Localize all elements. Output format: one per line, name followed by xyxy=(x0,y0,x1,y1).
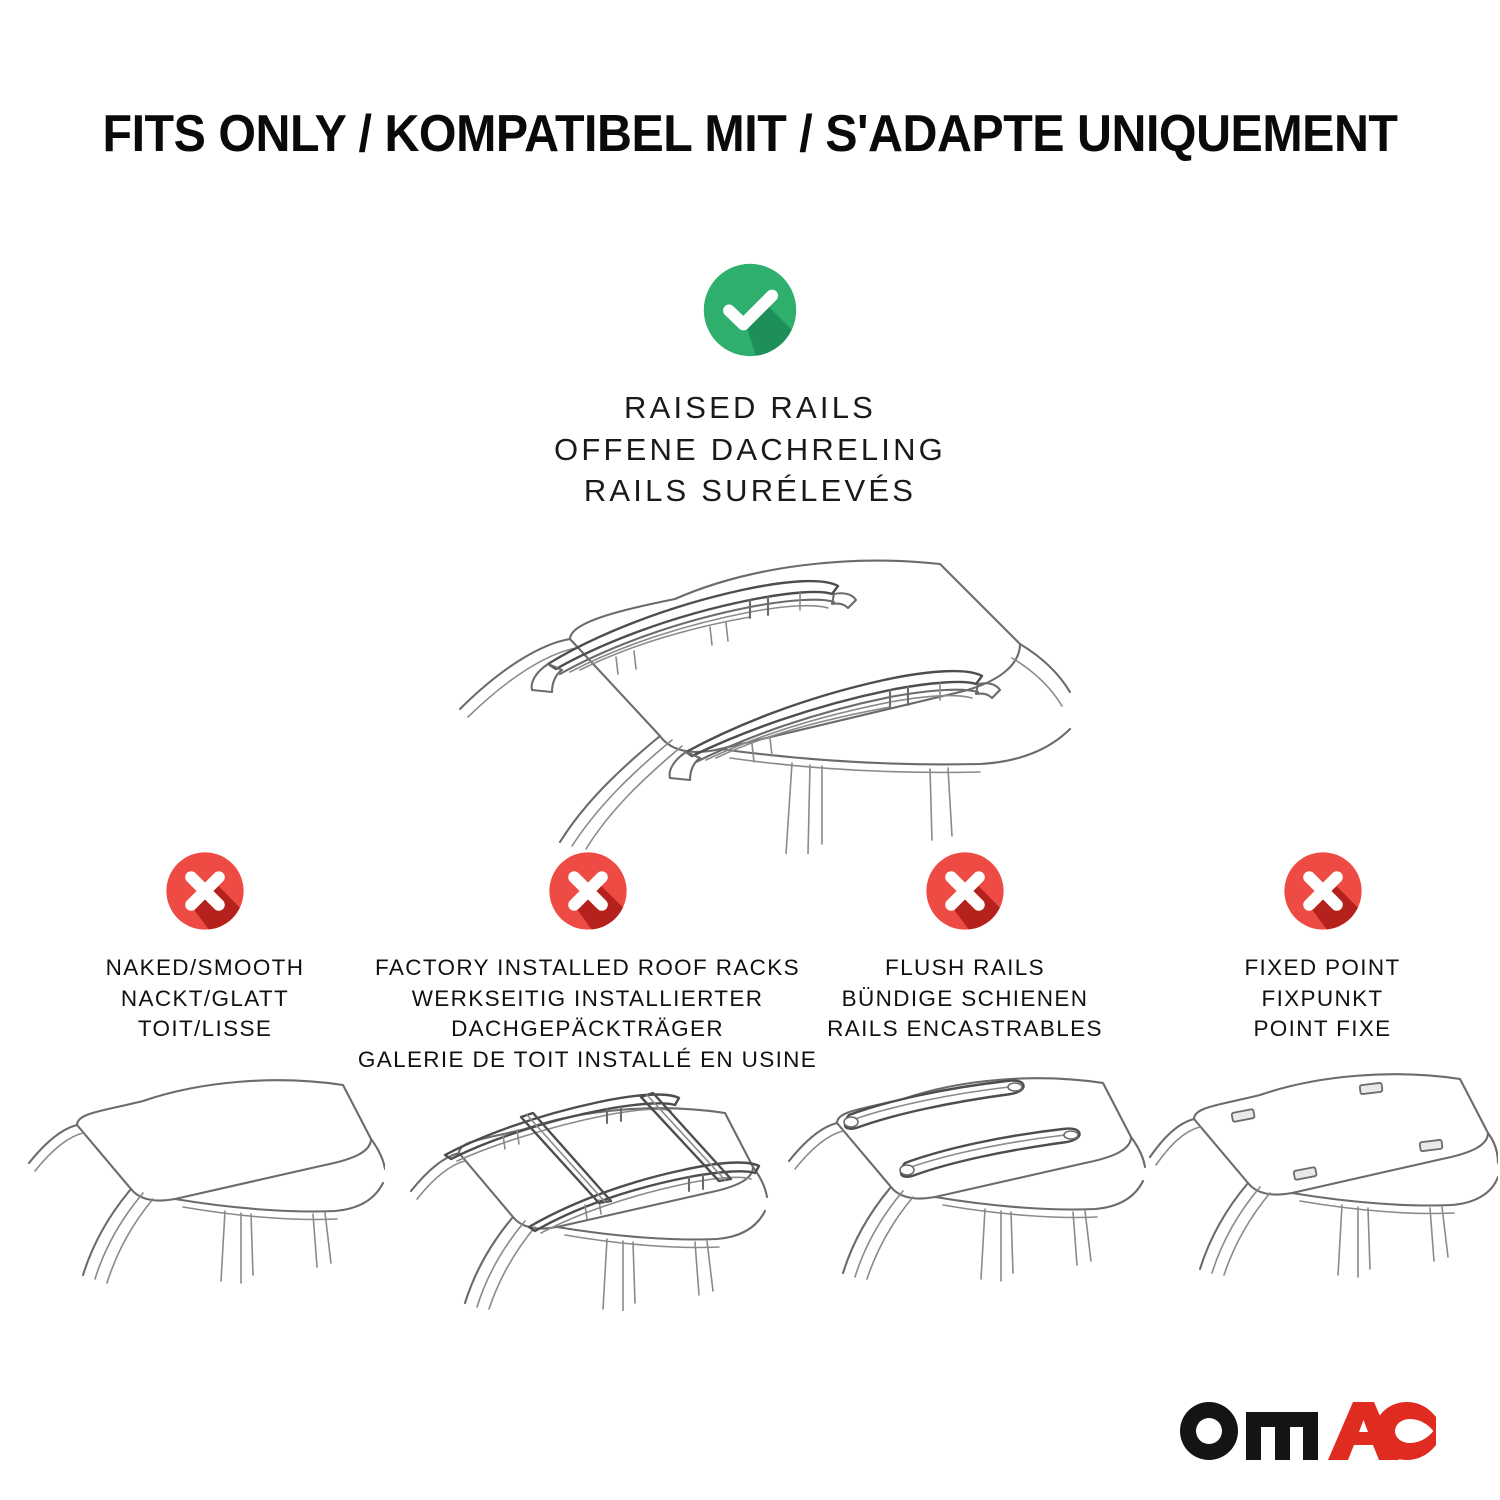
item-label-fr: POINT FIXE xyxy=(1244,1014,1400,1045)
incompatible-section: NAKED/SMOOTH NACKT/GLATT TOIT/LISSE xyxy=(0,845,1500,1311)
cross-circle-icon xyxy=(159,845,251,937)
car-roof-flush-rails-illustration xyxy=(783,1059,1148,1289)
incompatible-item-factory-racks: FACTORY INSTALLED ROOF RACKS WERKSEITIG … xyxy=(390,845,785,1311)
fitment-infographic: FITS ONLY / KOMPATIBEL MIT / S'ADAPTE UN… xyxy=(0,0,1500,1500)
car-roof-naked-smooth-illustration xyxy=(25,1063,385,1293)
item-label-fr: GALERIE DE TOIT INSTALLÉ EN USINE xyxy=(358,1045,817,1076)
item-label-fr: TOIT/LISSE xyxy=(106,1014,305,1045)
item-label-de-2: DACHGEPÄCKTRÄGER xyxy=(358,1014,817,1045)
compatible-labels: RAISED RAILS OFFENE DACHRELING RAILS SUR… xyxy=(554,387,946,512)
check-circle-icon xyxy=(695,255,805,365)
cross-circle-icon xyxy=(1277,845,1369,937)
item-labels: FLUSH RAILS BÜNDIGE SCHIENEN RAILS ENCAS… xyxy=(827,953,1103,1045)
incompatible-item-fixed-point: FIXED POINT FIXPUNKT POINT FIXE xyxy=(1145,845,1500,1289)
cross-circle-icon xyxy=(919,845,1011,937)
compatible-label-en: RAISED RAILS xyxy=(554,387,946,429)
item-label-en: FACTORY INSTALLED ROOF RACKS xyxy=(358,953,817,984)
item-label-de: FIXPUNKT xyxy=(1244,984,1400,1015)
incompatible-item-flush-rails: FLUSH RAILS BÜNDIGE SCHIENEN RAILS ENCAS… xyxy=(785,845,1145,1289)
omac-logo xyxy=(1178,1400,1438,1462)
item-labels: NAKED/SMOOTH NACKT/GLATT TOIT/LISSE xyxy=(106,953,305,1045)
compatible-label-fr: RAILS SURÉLEVÉS xyxy=(554,470,946,512)
item-labels: FIXED POINT FIXPUNKT POINT FIXE xyxy=(1244,953,1400,1045)
item-label-de: BÜNDIGE SCHIENEN xyxy=(827,984,1103,1015)
item-label-en: FIXED POINT xyxy=(1244,953,1400,984)
car-roof-raised-rails-illustration xyxy=(420,524,1080,854)
car-roof-fixed-point-illustration xyxy=(1148,1059,1498,1289)
item-label-en: FLUSH RAILS xyxy=(827,953,1103,984)
compatible-label-de: OFFENE DACHRELING xyxy=(554,429,946,471)
incompatible-item-naked-smooth: NAKED/SMOOTH NACKT/GLATT TOIT/LISSE xyxy=(0,845,390,1293)
item-label-de: NACKT/GLATT xyxy=(106,984,305,1015)
item-label-fr: RAILS ENCASTRABLES xyxy=(827,1014,1103,1045)
item-labels: FACTORY INSTALLED ROOF RACKS WERKSEITIG … xyxy=(358,953,817,1075)
car-roof-factory-racks-illustration xyxy=(403,1081,773,1311)
compatible-section: RAISED RAILS OFFENE DACHRELING RAILS SUR… xyxy=(0,255,1500,854)
item-label-en: NAKED/SMOOTH xyxy=(106,953,305,984)
cross-circle-icon xyxy=(542,845,634,937)
item-label-de-1: WERKSEITIG INSTALLIERTER xyxy=(358,984,817,1015)
page-title: FITS ONLY / KOMPATIBEL MIT / S'ADAPTE UN… xyxy=(53,104,1448,164)
